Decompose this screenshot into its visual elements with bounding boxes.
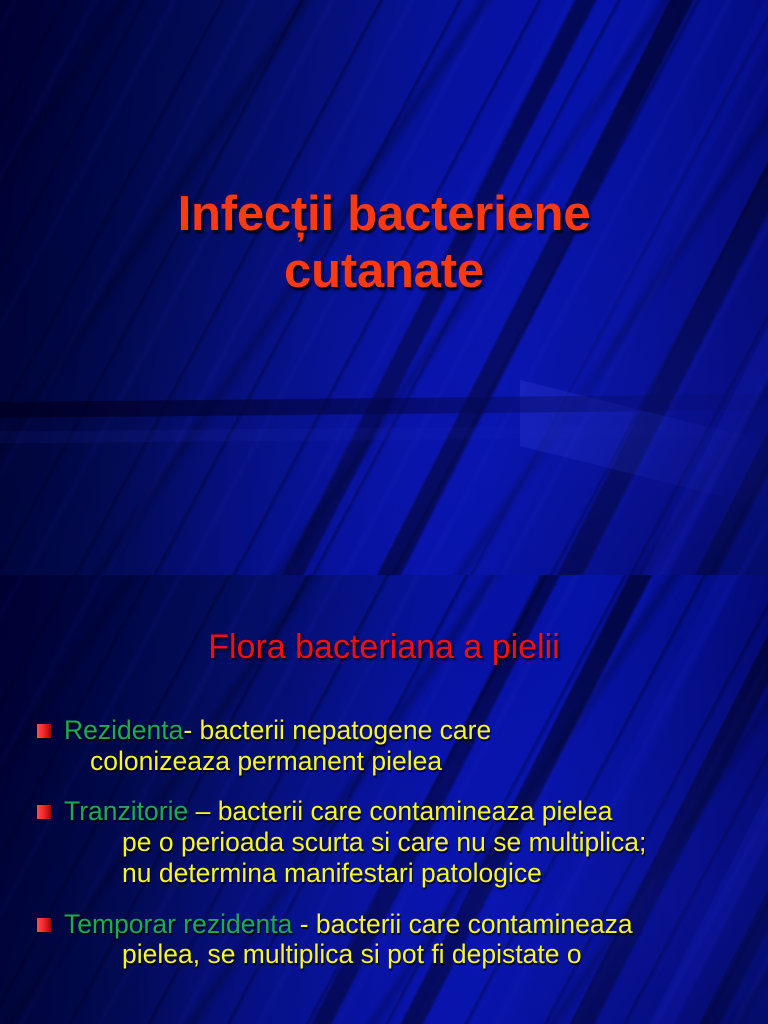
list-item-body-1: bacterii care contamineaza pielea bbox=[210, 796, 612, 826]
list-item-text: Rezidenta- bacterii nepatogene care colo… bbox=[64, 715, 750, 776]
list-item-line-3: nu determina manifestari patologice bbox=[122, 858, 750, 889]
list-item-dash: - bbox=[183, 715, 192, 745]
list-item: Rezidenta- bacterii nepatogene care colo… bbox=[34, 715, 750, 776]
slide-title-line-2: cutanate bbox=[40, 243, 728, 300]
list-item-term: Tranzitorie bbox=[64, 796, 188, 826]
slide-1: Infecții bacteriene cutanate bbox=[0, 0, 768, 575]
list-item-dash: - bbox=[300, 909, 309, 939]
list-item-text: Tranzitorie – bacterii care contamineaza… bbox=[64, 796, 750, 888]
slide-2-heading: Flora bacteriana a pielii bbox=[0, 628, 768, 667]
red-square-bullet-icon bbox=[37, 918, 51, 932]
list-item-line-2: pielea, se multiplica si pot fi depistat… bbox=[122, 939, 750, 970]
slide-2: Flora bacteriana a pielii Rezidenta- bac… bbox=[0, 575, 768, 1024]
red-square-bullet-icon bbox=[37, 805, 51, 819]
list-item-term: Temporar rezidenta bbox=[64, 909, 292, 939]
red-square-bullet-icon bbox=[37, 724, 51, 738]
list-item-line-1: Temporar rezidenta - bacterii care conta… bbox=[64, 909, 750, 940]
slide-2-bullet-list: Rezidenta- bacterii nepatogene care colo… bbox=[34, 715, 750, 990]
list-item-text: Temporar rezidenta - bacterii care conta… bbox=[64, 909, 750, 970]
list-item-line-2: colonizeaza permanent pielea bbox=[90, 746, 750, 777]
list-item-body-1: bacterii care contamineaza bbox=[309, 909, 633, 939]
slide-title-line-1: Infecții bacteriene bbox=[40, 186, 728, 243]
list-item-line-1: Rezidenta- bacterii nepatogene care bbox=[64, 715, 750, 746]
slide-1-title-block: Infecții bacteriene cutanate bbox=[0, 186, 768, 300]
list-item: Temporar rezidenta - bacterii care conta… bbox=[34, 909, 750, 970]
list-item-line-2: pe o perioada scurta si care nu se multi… bbox=[122, 827, 750, 858]
list-item: Tranzitorie – bacterii care contamineaza… bbox=[34, 796, 750, 888]
list-item-term: Rezidenta bbox=[64, 715, 183, 745]
list-item-dash: – bbox=[196, 796, 211, 826]
slide-deck: Infecții bacteriene cutanate Flora bacte… bbox=[0, 0, 768, 1024]
list-item-line-1: Tranzitorie – bacterii care contamineaza… bbox=[64, 796, 750, 827]
list-item-body-1: bacterii nepatogene care bbox=[192, 715, 491, 745]
